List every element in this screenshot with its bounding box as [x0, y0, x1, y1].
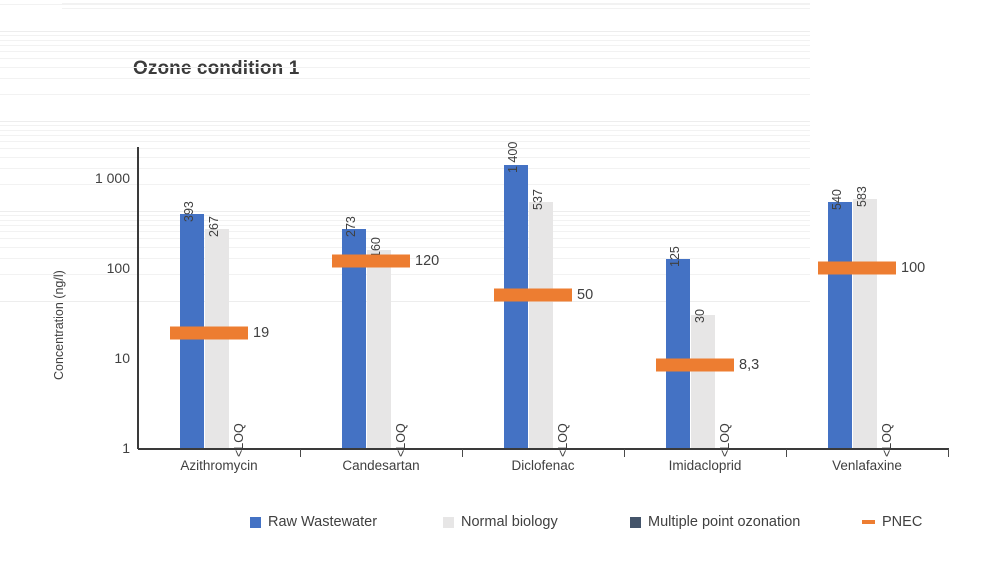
legend-label: PNEC	[882, 514, 922, 530]
legend-swatch-icon	[630, 517, 641, 528]
bar-raw-wastewater	[828, 202, 852, 448]
bar-value-label-normal: 537	[531, 189, 545, 210]
bar-value-label-normal: 583	[855, 186, 869, 207]
bar-value-label-normal: 30	[693, 309, 707, 323]
y-axis-tick-label: 1	[68, 440, 130, 456]
legend-swatch-icon	[862, 520, 875, 524]
y-axis-line	[137, 147, 139, 449]
legend-label: Multiple point ozonation	[648, 514, 800, 530]
y-axis-tick-label: 10	[68, 350, 130, 366]
bar-normal-biology	[529, 202, 553, 448]
bar-value-label-ozonation-loq: <LOQ	[394, 423, 408, 457]
bar-value-label-raw: 125	[668, 246, 682, 267]
legend-item-normal-biology[interactable]: Normal biology	[443, 514, 558, 530]
bar-value-label-raw: 540	[830, 189, 844, 210]
x-axis-tick	[300, 449, 301, 457]
pnec-value-label: 100	[901, 260, 925, 276]
bar-value-label-ozonation-loq: <LOQ	[232, 423, 246, 457]
chart-legend: Raw WastewaterNormal biologyMultiple poi…	[0, 514, 1000, 540]
x-axis-category-label: Venlafaxine	[832, 458, 902, 473]
y-axis-tick-labels: 1101001 000	[68, 0, 130, 563]
legend-swatch-icon	[250, 517, 261, 528]
bar-value-label-raw: 1 400	[506, 141, 520, 172]
pnec-marker	[170, 326, 248, 339]
x-axis-category-label: Imidacloprid	[669, 458, 742, 473]
pnec-value-label: 120	[415, 253, 439, 269]
gridline	[62, 3, 810, 4]
x-axis-category-label: Candesartan	[342, 458, 419, 473]
pnec-value-label: 50	[577, 287, 593, 303]
bar-value-label-raw: 273	[344, 216, 358, 237]
chart-container: Ozone condition 1 Concentration (ng/l) 1…	[0, 0, 1000, 563]
x-axis-tick	[624, 449, 625, 457]
bar-raw-wastewater	[504, 165, 528, 448]
bar-value-label-ozonation-loq: <LOQ	[556, 423, 570, 457]
legend-label: Raw Wastewater	[268, 514, 377, 530]
bar-value-label-raw: 393	[182, 202, 196, 223]
x-axis-line	[138, 448, 949, 450]
legend-swatch-icon	[443, 517, 454, 528]
bar-normal-biology	[367, 250, 391, 448]
y-axis-tick-label: 100	[68, 260, 130, 276]
pnec-marker	[656, 359, 734, 372]
bar-value-label-normal: 267	[207, 217, 221, 238]
x-axis-tick	[786, 449, 787, 457]
legend-label: Normal biology	[461, 514, 558, 530]
legend-item-multiple-point-ozonation[interactable]: Multiple point ozonation	[630, 514, 800, 530]
bar-value-label-ozonation-loq: <LOQ	[718, 423, 732, 457]
legend-item-pnec[interactable]: PNEC	[862, 514, 922, 530]
y-axis-tick-label: 1 000	[68, 170, 130, 186]
pnec-value-label: 19	[253, 325, 269, 341]
pnec-marker	[818, 261, 896, 274]
x-axis-category-label: Azithromycin	[180, 458, 257, 473]
gridline	[62, 8, 810, 9]
bar-normal-biology	[853, 199, 877, 448]
bar-value-label-ozonation-loq: <LOQ	[880, 423, 894, 457]
pnec-marker	[332, 254, 410, 267]
bar-normal-biology	[691, 315, 715, 448]
bar-raw-wastewater	[666, 259, 690, 448]
x-axis-tick	[948, 449, 949, 457]
pnec-value-label: 8,3	[739, 357, 759, 373]
legend-item-raw-wastewater[interactable]: Raw Wastewater	[250, 514, 377, 530]
x-axis-category-label: Diclofenac	[511, 458, 574, 473]
x-axis-tick	[462, 449, 463, 457]
pnec-marker	[494, 289, 572, 302]
